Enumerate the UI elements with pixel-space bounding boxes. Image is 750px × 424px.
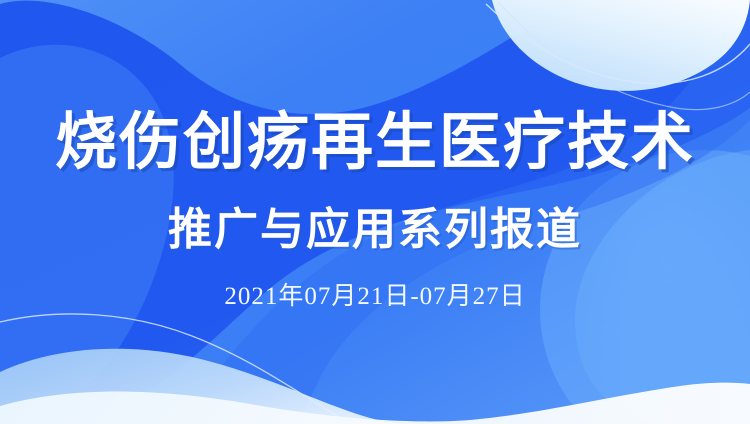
- banner-title-sub: 推广与应用系列报道: [0, 202, 750, 258]
- banner-date-range: 2021年07月21日-07月27日: [0, 281, 750, 313]
- banner-content: 烧伤创疡再生医疗技术 推广与应用系列报道 2021年07月21日-07月27日: [0, 0, 750, 424]
- promo-banner: 烧伤创疡再生医疗技术 推广与应用系列报道 2021年07月21日-07月27日: [0, 0, 750, 424]
- banner-title-main: 烧伤创疡再生医疗技术: [0, 103, 750, 181]
